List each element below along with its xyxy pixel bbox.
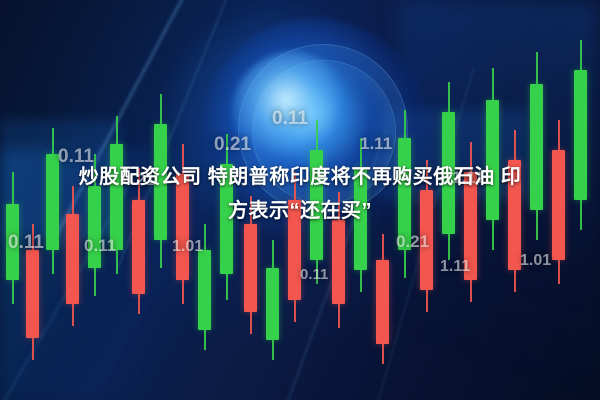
candle-body [376,260,389,344]
news-thumbnail-image: 0.110.211.110.111.110.210.110.111.010.21… [0,0,600,400]
headline-overlay: 炒股配资公司 特朗普称印度将不再购买俄石油 印 方表示“还在买” [0,160,600,228]
candle-body [244,224,257,312]
headline-line-2: 方表示“还在买” [6,194,594,228]
candle-body [332,220,345,304]
candle-body [266,268,279,340]
candle-body [26,250,39,338]
headline-line-1: 炒股配资公司 特朗普称印度将不再购买俄石油 印 [6,160,594,194]
candle-body [198,250,211,330]
